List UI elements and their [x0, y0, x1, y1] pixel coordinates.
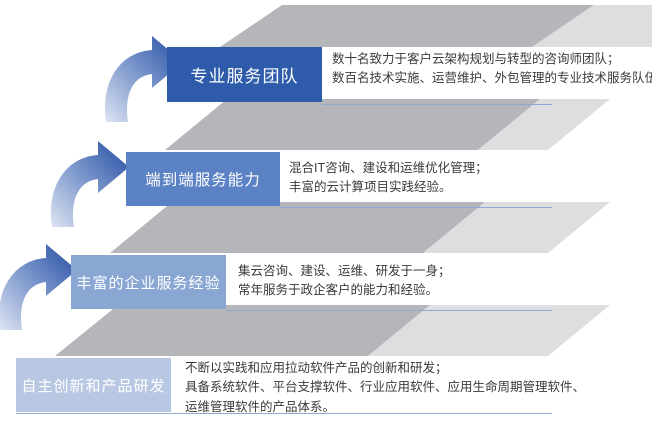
- step-tread-1: [220, 5, 652, 47]
- step-3-desc-line-2: 常年服务于政企客户的能力和经验。: [238, 281, 568, 300]
- step-1-label-box[interactable]: 专业服务团队: [167, 47, 322, 102]
- step-3-label: 丰富的企业服务经验: [76, 272, 220, 293]
- step-2-label-box[interactable]: 端到端服务能力: [126, 152, 280, 206]
- step-4-label: 自主创新和产品研发: [21, 375, 165, 396]
- arrow-icon-step2: [51, 141, 129, 227]
- step-4-desc-line-2: 具备系统软件、平台支撑软件、行业应用软件、应用生命周期管理软件、: [185, 378, 645, 397]
- step-1-description: 数十名致力于客户云架构规划与转型的咨询师团队； 数百名技术实施、运营维护、外包管…: [332, 50, 652, 89]
- step-4-desc-line-1: 不断以实践和应用拉动软件产品的创新和研发；: [185, 359, 645, 378]
- step-3-description: 集云咨询、建设、运维、研发于一身； 常年服务于政企客户的能力和经验。: [238, 262, 568, 301]
- step-1-underline: [322, 104, 552, 105]
- step-2-desc-line-1: 混合IT咨询、建设和运维优化管理；: [289, 159, 609, 178]
- step-2-description: 混合IT咨询、建设和运维优化管理； 丰富的云计算项目实践经验。: [289, 159, 609, 198]
- arrow-icon-step3: [0, 244, 77, 330]
- step-1-label: 专业服务团队: [191, 62, 299, 87]
- step-4-underline: [16, 413, 552, 414]
- step-3-desc-line-1: 集云咨询、建设、运维、研发于一身；: [238, 262, 568, 281]
- step-4-description: 不断以实践和应用拉动软件产品的创新和研发； 具备系统软件、平台支撑软件、行业应用…: [185, 359, 645, 417]
- step-tread-4: [55, 305, 610, 356]
- step-tread-3: [110, 202, 610, 253]
- step-2-label: 端到端服务能力: [145, 168, 261, 190]
- step-tread-2: [165, 99, 610, 150]
- step-1-desc-line-1: 数十名致力于客户云架构规划与转型的咨询师团队；: [332, 50, 652, 69]
- infographic-canvas: 专业服务团队 数十名致力于客户云架构规划与转型的咨询师团队； 数百名技术实施、运…: [0, 0, 652, 422]
- step-1-desc-line-2: 数百名技术实施、运营维护、外包管理的专业技术服务队伍。: [332, 69, 652, 88]
- step-4-label-box[interactable]: 自主创新和产品研发: [16, 358, 171, 412]
- step-4-desc-line-3: 运维管理软件的产品体系。: [185, 398, 645, 417]
- step-3-underline: [226, 310, 552, 311]
- step-3-label-box[interactable]: 丰富的企业服务经验: [71, 255, 226, 309]
- step-2-underline: [280, 207, 552, 208]
- step-2-desc-line-2: 丰富的云计算项目实践经验。: [289, 178, 609, 197]
